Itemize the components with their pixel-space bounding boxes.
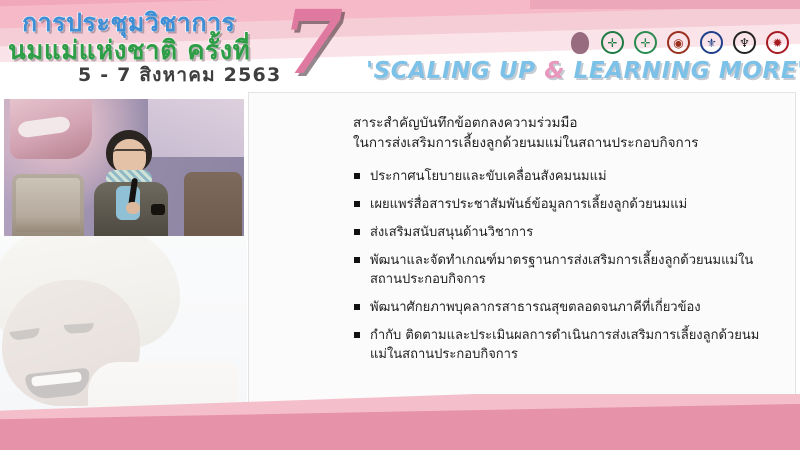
conference-date: 5 - 7 สิงหาคม 2563 bbox=[78, 60, 281, 90]
lead-line-1: สาระสำคัญบันทึกข้อตกลงความร่วมมือ bbox=[353, 113, 773, 133]
list-item-label: พัฒนาศักยภาพบุคลากรสาธารณสุขตลอดจนภาคีที… bbox=[370, 300, 701, 315]
content-panel: สาระสำคัญบันทึกข้อตกลงความร่วมมือ ในการส… bbox=[248, 92, 796, 412]
list-item: เผยแพร่สื่อสารประชาสัมพันธ์ข้อมูลการเลี้… bbox=[353, 195, 773, 214]
edition-number: 7 bbox=[282, 0, 343, 94]
slogan-ampersand: & bbox=[544, 58, 565, 84]
logo-university-seal-icon: ♆ bbox=[731, 29, 758, 56]
list-item-label: กำกับ ติดตามและประเมินผลการดำเนินการส่งเ… bbox=[370, 328, 759, 362]
slide-footer-bands bbox=[0, 394, 800, 450]
footer-band-solid bbox=[0, 440, 800, 450]
list-item: ประกาศนโยบายและขับเคลื่อนสังคมนมแม่ bbox=[353, 167, 773, 186]
list-item-label: พัฒนาและจัดทำเกณฑ์มาตรฐานการส่งเสริมการเ… bbox=[370, 253, 753, 287]
bullet-square-icon bbox=[354, 257, 360, 263]
video-chair-left bbox=[12, 174, 84, 236]
slogan-part-before: 'SCALING UP bbox=[366, 58, 544, 84]
list-item-label: ส่งเสริมสนับสนุนด้านวิชาการ bbox=[370, 225, 533, 240]
agreement-bullet-list: ประกาศนโยบายและขับเคลื่อนสังคมนมแม่ เผยแ… bbox=[353, 167, 773, 364]
video-chair-right bbox=[184, 172, 242, 236]
logo-thai-government-garuda-icon: ◉ bbox=[665, 29, 692, 56]
bullet-square-icon bbox=[354, 332, 360, 338]
slide-header: การประชุมวิชาการ นมแม่แห่งชาติ ครั้งที่ … bbox=[0, 0, 800, 96]
logo-red-cross-society-icon: ✹ bbox=[764, 29, 791, 56]
list-item-label: เผยแพร่สื่อสารประชาสัมพันธ์ข้อมูลการเลี้… bbox=[370, 197, 687, 212]
presentation-slide: การประชุมวิชาการ นมแม่แห่งชาติ ครั้งที่ … bbox=[0, 0, 800, 450]
list-item: พัฒนาศักยภาพบุคลากรสาธารณสุขตลอดจนภาคีที… bbox=[353, 298, 773, 317]
list-item-label: ประกาศนโยบายและขับเคลื่อนสังคมนมแม่ bbox=[370, 169, 607, 184]
video-backdrop-poster-left bbox=[10, 99, 92, 159]
list-item: พัฒนาและจัดทำเกณฑ์มาตรฐานการส่งเสริมการเ… bbox=[353, 251, 773, 289]
speaker-glasses-icon bbox=[113, 149, 146, 159]
presenter-clicker-icon bbox=[151, 204, 165, 215]
lead-line-2: ในการส่งเสริมการเลี้ยงลูกด้วยนมแม่ในสถาน… bbox=[353, 133, 773, 153]
logo-national-emblem-garuda-icon: ⚜ bbox=[698, 29, 725, 56]
logo-ministry-of-public-health-icon: ✛ bbox=[599, 29, 626, 56]
logo-thai-royal-emblem-icon bbox=[566, 29, 593, 56]
list-item: กำกับ ติดตามและประเมินผลการดำเนินการส่งเ… bbox=[353, 326, 773, 364]
bullet-square-icon bbox=[354, 304, 360, 310]
sponsor-logo-row: ✛ ✛ ◉ ⚜ ♆ ✹ สสส bbox=[566, 22, 800, 56]
conference-slogan: 'SCALING UP & LEARNING MORE' bbox=[366, 58, 800, 84]
slogan-part-after: LEARNING MORE' bbox=[565, 58, 800, 84]
bullet-square-icon bbox=[354, 173, 360, 179]
list-item: ส่งเสริมสนับสนุนด้านวิชาการ bbox=[353, 223, 773, 242]
conference-speaker-video[interactable] bbox=[4, 99, 244, 236]
video-speaker-figure bbox=[88, 130, 174, 236]
logo-department-of-health-icon: ✛ bbox=[632, 29, 659, 56]
bullet-square-icon bbox=[354, 201, 360, 207]
bullet-square-icon bbox=[354, 229, 360, 235]
content-body: สาระสำคัญบันทึกข้อตกลงความร่วมมือ ในการส… bbox=[353, 113, 773, 373]
header-top-right-stripe bbox=[530, 0, 800, 9]
